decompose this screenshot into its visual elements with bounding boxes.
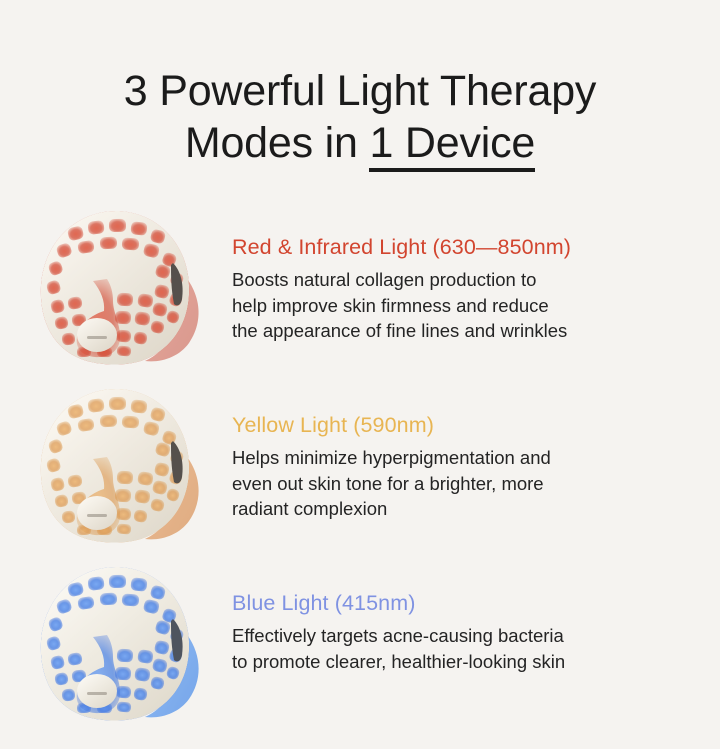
- mode-row-blue: Blue Light (415nm) Effectively targets a…: [0, 555, 720, 733]
- led-face-mask-red-icon: [21, 205, 211, 371]
- mode-desc-yellow: Helps minimize hyperpigmentation and eve…: [232, 445, 664, 521]
- headline-line-2-prefix: Modes in: [185, 119, 370, 167]
- mode-text-blue: Blue Light (415nm) Effectively targets a…: [232, 555, 720, 674]
- mode-figure-red: [0, 199, 232, 377]
- mode-desc-line: the appearance of fine lines and wrinkle…: [232, 318, 664, 343]
- mask-brand-mark: [87, 514, 107, 517]
- mode-desc-line: to promote clearer, healthier-looking sk…: [232, 649, 664, 674]
- mask-lattice: [41, 211, 189, 365]
- mode-desc-line: Effectively targets acne-causing bacteri…: [232, 623, 664, 648]
- mode-row-yellow: Yellow Light (590nm) Helps minimize hype…: [0, 377, 720, 555]
- mode-title-red: Red & Infrared Light (630—850nm): [232, 235, 704, 261]
- page-title: 3 Powerful Light Therapy Modes in 1 Devi…: [0, 29, 720, 170]
- mask-brand-mark: [87, 692, 107, 695]
- mode-figure-yellow: [0, 377, 232, 555]
- headline-line-2: Modes in 1 Device: [0, 117, 720, 169]
- led-face-mask-blue-icon: [21, 561, 211, 727]
- mode-title-blue: Blue Light (415nm): [232, 591, 704, 617]
- mode-text-yellow: Yellow Light (590nm) Helps minimize hype…: [232, 377, 720, 522]
- mask-brand-mark: [87, 336, 107, 339]
- led-face-mask-yellow-icon: [21, 383, 211, 549]
- mode-desc-red: Boosts natural collagen production to he…: [232, 267, 664, 343]
- mode-desc-line: Helps minimize hyperpigmentation and: [232, 445, 664, 470]
- therapy-modes-list: Red & Infrared Light (630—850nm) Boosts …: [0, 199, 720, 733]
- mode-row-red-infrared: Red & Infrared Light (630—850nm) Boosts …: [0, 199, 720, 377]
- mask-lattice: [41, 389, 189, 543]
- mode-desc-line: Boosts natural collagen production to: [232, 267, 664, 292]
- mode-figure-blue: [0, 555, 232, 733]
- mask-lattice: [41, 567, 189, 721]
- light-therapy-promo-page: 3 Powerful Light Therapy Modes in 1 Devi…: [0, 29, 720, 749]
- mode-desc-line: radiant complexion: [232, 496, 664, 521]
- mode-desc-line: even out skin tone for a brighter, more: [232, 471, 664, 496]
- mode-text-red: Red & Infrared Light (630—850nm) Boosts …: [232, 199, 720, 344]
- mode-desc-line: help improve skin firmness and reduce: [232, 293, 664, 318]
- headline-emphasis: 1 Device: [369, 119, 535, 172]
- headline-line-1: 3 Powerful Light Therapy: [0, 65, 720, 117]
- mode-title-yellow: Yellow Light (590nm): [232, 413, 704, 439]
- mode-desc-blue: Effectively targets acne-causing bacteri…: [232, 623, 664, 674]
